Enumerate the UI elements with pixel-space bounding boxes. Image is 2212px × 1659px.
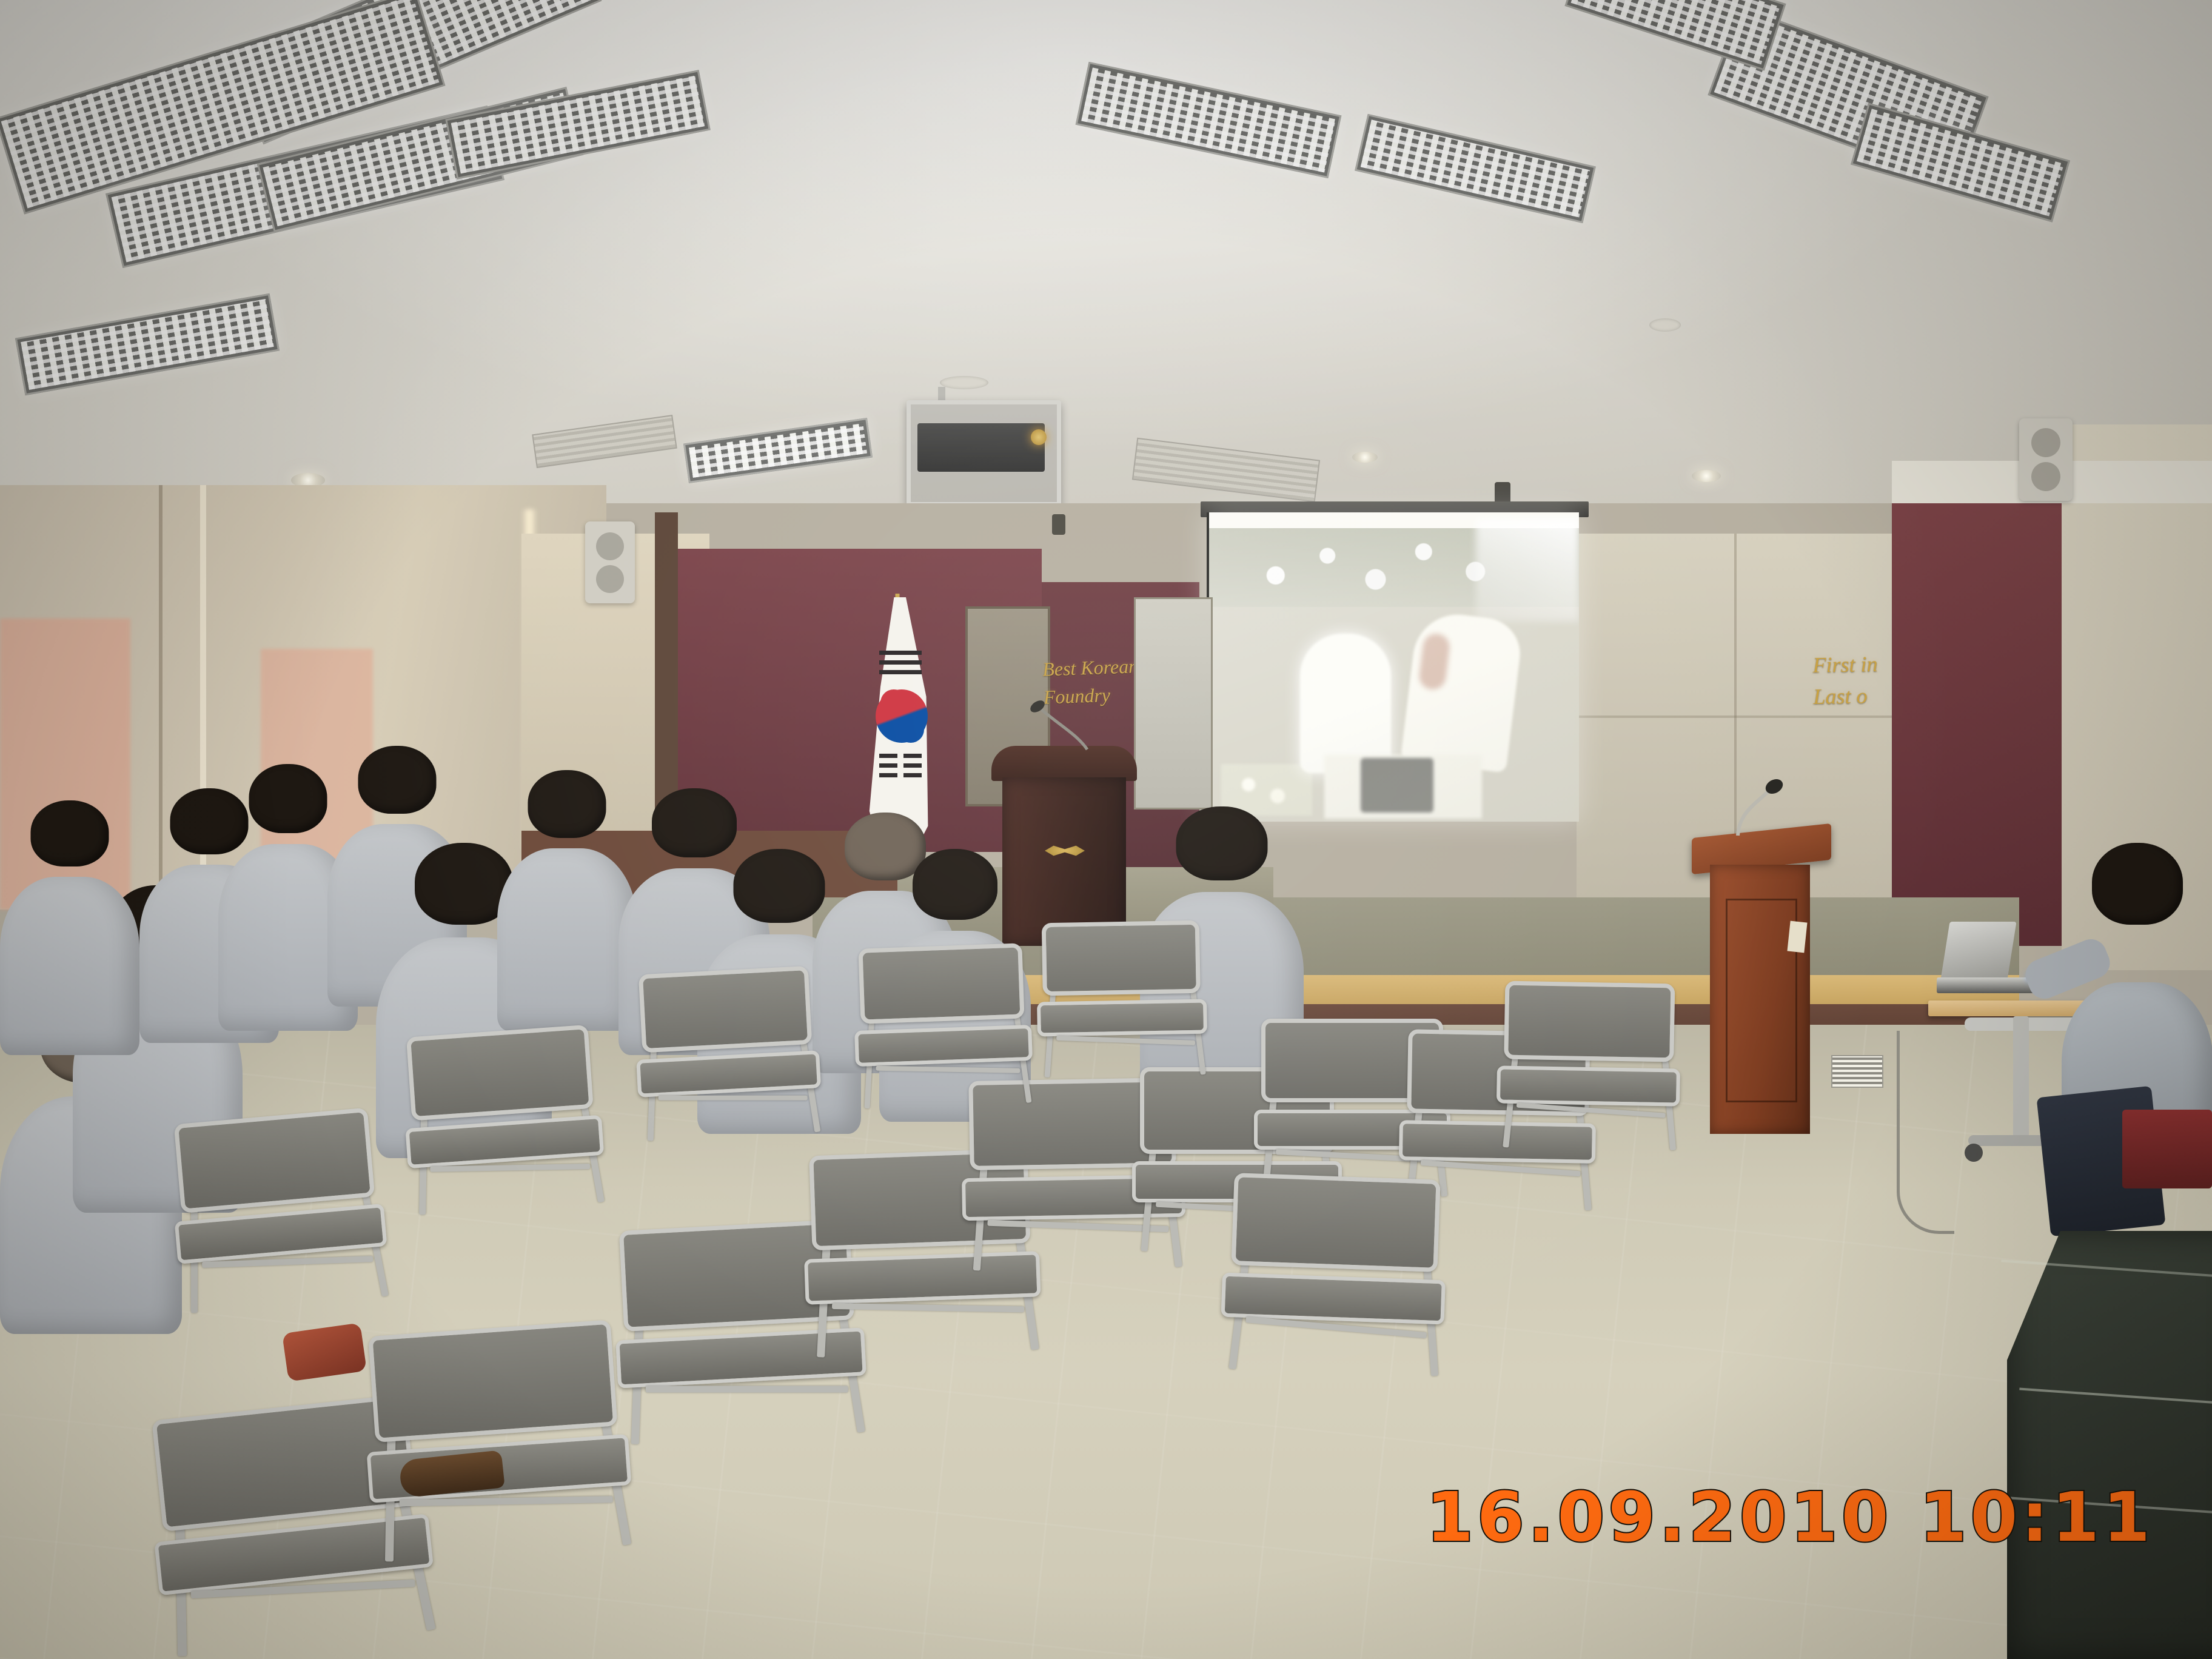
chair-backrest [406, 1025, 594, 1121]
folding-chair [1227, 1173, 1440, 1380]
chair-backrest [638, 966, 812, 1053]
chair-seat [854, 1025, 1032, 1067]
folding-chair [638, 966, 817, 1144]
chair-seat [636, 1050, 821, 1097]
chair-backrest [858, 943, 1024, 1024]
chair-seat [1496, 1065, 1680, 1106]
chair-cross-brace [646, 1386, 848, 1393]
chair-backrest [174, 1108, 375, 1214]
chair-backrest [1504, 981, 1675, 1062]
folding-chair [368, 1320, 626, 1567]
stacked-dark-seating [2007, 1231, 2212, 1659]
chair-seat [405, 1115, 604, 1168]
chair-seat [1221, 1273, 1445, 1324]
chair-cross-brace [832, 1303, 1024, 1313]
chair-cross-brace [1056, 1036, 1195, 1045]
chair-backrest [1232, 1173, 1441, 1272]
chair-backrest [1042, 920, 1201, 996]
chair-cross-brace [876, 1066, 1020, 1073]
folding-chair [1042, 920, 1202, 1081]
chair-backrest [368, 1320, 617, 1443]
folding-chair [406, 1025, 600, 1219]
chair-seat [1037, 999, 1208, 1037]
chairs-group [0, 0, 2212, 1659]
auditorium-photo: Best Korean Foundry First in Last o [0, 0, 2212, 1659]
folding-chair [1503, 981, 1675, 1154]
chair-seat [175, 1204, 387, 1264]
folding-chair [858, 943, 1027, 1112]
camera-timestamp: 16.09.2010 10:11 [1426, 1478, 2154, 1557]
folding-chair [174, 1108, 384, 1318]
chair-cross-brace [659, 1096, 808, 1101]
